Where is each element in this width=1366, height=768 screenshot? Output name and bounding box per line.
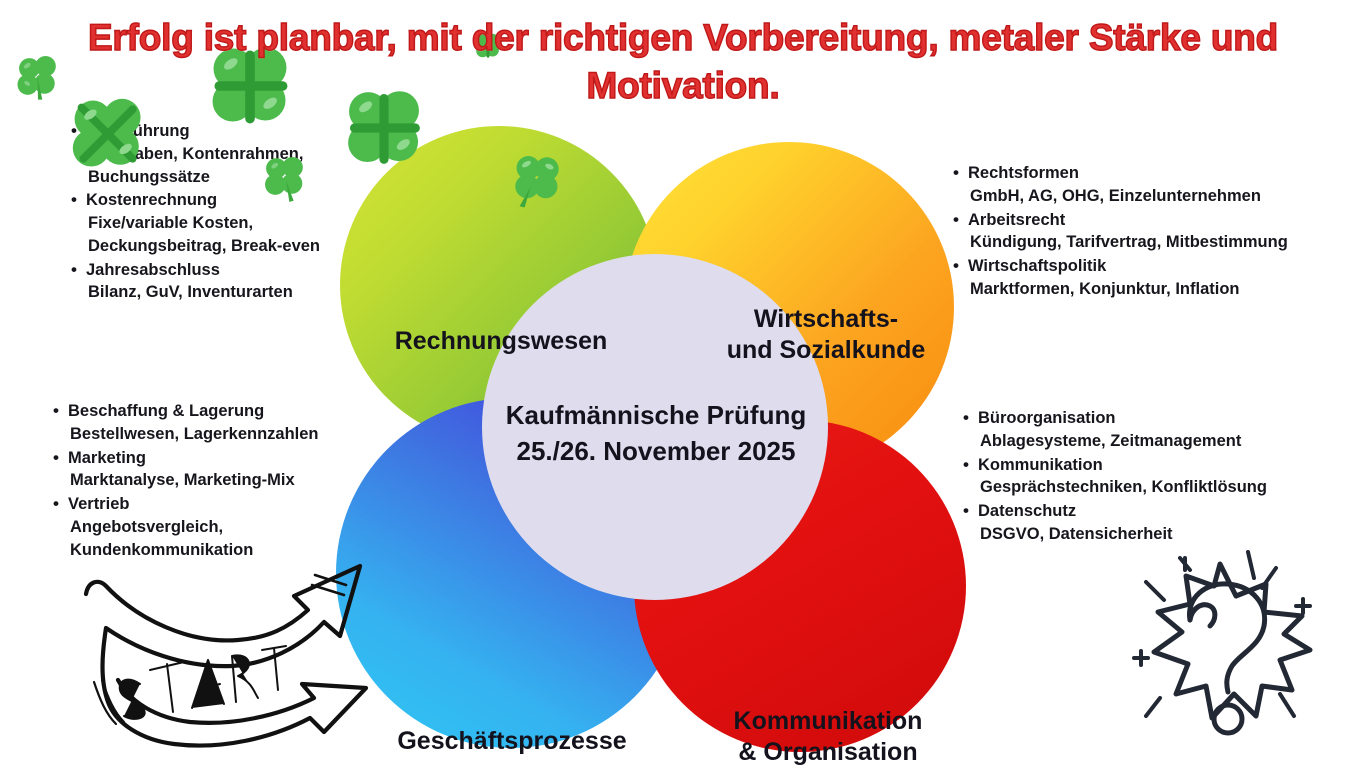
clover-icon <box>10 50 66 104</box>
list-item-title: Vertrieb <box>68 495 129 513</box>
list-item: Rechtsformen GmbH, AG, OHG, Einzeluntern… <box>952 162 1344 208</box>
list-item-detail: Marktanalyse, Marketing-Mix <box>68 469 372 492</box>
list-item-detail: Gesprächstechniken, Konfliktlösung <box>978 476 1312 499</box>
list-item-title: Jahresabschluss <box>86 261 220 279</box>
list-item: Wirtschaftspolitik Marktformen, Konjunkt… <box>952 255 1344 301</box>
venn-diagram: Rechnungswesen Wirtschafts- und Sozialku… <box>336 126 986 754</box>
list-item-detail: Fixe/variable Kosten, Deckungsbeitrag, B… <box>86 212 370 258</box>
list-item: Arbeitsrecht Kündigung, Tarifvertrag, Mi… <box>952 209 1344 255</box>
clover-icon <box>62 90 154 178</box>
clover-icon <box>336 82 432 174</box>
bullet-list-wirtschafts-und-sozialkunde: Rechtsformen GmbH, AG, OHG, Einzeluntern… <box>952 162 1344 302</box>
list-item-title: Kommunikation <box>978 456 1103 474</box>
clover-icon <box>472 30 504 62</box>
list-item-title: Arbeitsrecht <box>968 211 1065 229</box>
list-item-title: Kostenrechnung <box>86 191 217 209</box>
clover-icon <box>258 150 312 204</box>
list-item: Büroorganisation Ablagesysteme, Zeitmana… <box>962 407 1312 453</box>
start-arrow-icon <box>72 552 372 752</box>
bullet-list-geschaeftsprozesse: Beschaffung & Lagerung Bestellwesen, Lag… <box>52 400 372 562</box>
list-item-detail: Bestellwesen, Lagerkennzahlen <box>68 423 372 446</box>
list-item-title: Büroorganisation <box>978 409 1116 427</box>
list-item: Kostenrechnung Fixe/variable Kosten, Dec… <box>70 189 370 257</box>
clover-icon <box>200 38 300 134</box>
clover-icon <box>506 148 568 210</box>
list-item-title: Datenschutz <box>978 502 1076 520</box>
list-item: Marketing Marktanalyse, Marketing-Mix <box>52 447 372 493</box>
list-item-title: Marketing <box>68 449 146 467</box>
list-item-title: Rechtsformen <box>968 164 1079 182</box>
venn-center-circle[interactable] <box>482 254 828 600</box>
list-item-detail: Kündigung, Tarifvertrag, Mitbestimmung <box>968 231 1344 254</box>
bullet-list-kommunikation-organisation: Büroorganisation Ablagesysteme, Zeitmana… <box>962 407 1312 547</box>
list-item-detail: Ablagesysteme, Zeitmanagement <box>978 430 1312 453</box>
list-item: Jahresabschluss Bilanz, GuV, Inventurart… <box>70 259 370 305</box>
list-item-title: Beschaffung & Lagerung <box>68 402 264 420</box>
list-item: Kommunikation Gesprächstechniken, Konfli… <box>962 454 1312 500</box>
question-mark-icon <box>1124 534 1340 750</box>
list-item-detail: Bilanz, GuV, Inventurarten <box>86 281 370 304</box>
list-item-detail: GmbH, AG, OHG, Einzelunternehmen <box>968 185 1344 208</box>
list-item-detail: Marktformen, Konjunktur, Inflation <box>968 278 1344 301</box>
list-item: Beschaffung & Lagerung Bestellwesen, Lag… <box>52 400 372 446</box>
list-item-title: Wirtschaftspolitik <box>968 257 1106 275</box>
